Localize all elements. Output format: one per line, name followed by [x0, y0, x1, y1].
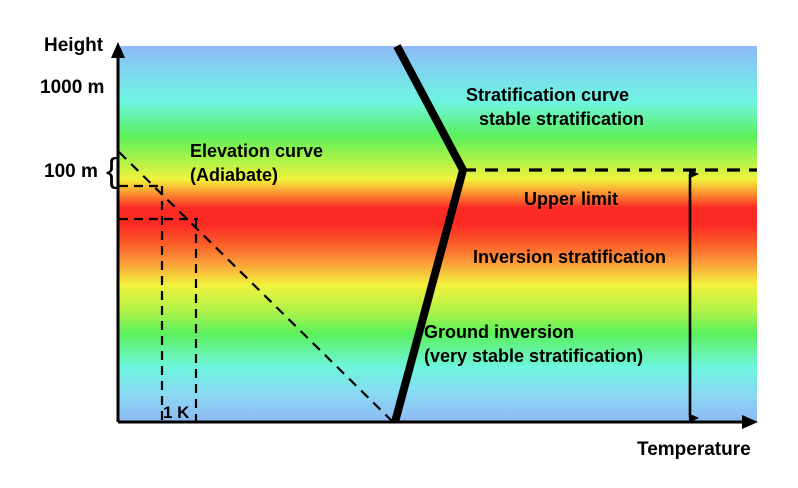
ground-inversion-label-line2: (very stable stratification) — [424, 346, 643, 366]
y-tick-label-1000m: 1000 m — [40, 77, 104, 98]
y-tick-label-100m: 100 m — [44, 161, 98, 182]
stratification-curve-label-line1: Stratification curve — [466, 85, 629, 105]
diagram-canvas: Height 1000 m 100 m { Temperature 1 K El… — [0, 0, 798, 488]
elevation-curve-label-line1: Elevation curve — [190, 141, 323, 161]
upper-limit-label: Upper limit — [524, 189, 618, 209]
unit-step-label: 1 K — [163, 403, 190, 422]
inversion-stratification-label: Inversion stratification — [473, 247, 666, 267]
ground-inversion-label-line1: Ground inversion — [424, 322, 574, 342]
y-axis-title: Height — [44, 35, 104, 56]
height-brace-glyph: { — [106, 152, 117, 190]
temperature-stratification-diagram: Height 1000 m 100 m { Temperature 1 K El… — [0, 0, 798, 488]
stratification-curve-label-line2: stable stratification — [479, 109, 644, 129]
x-axis-title: Temperature — [637, 439, 751, 460]
elevation-curve-label-line2: (Adiabate) — [190, 165, 278, 185]
